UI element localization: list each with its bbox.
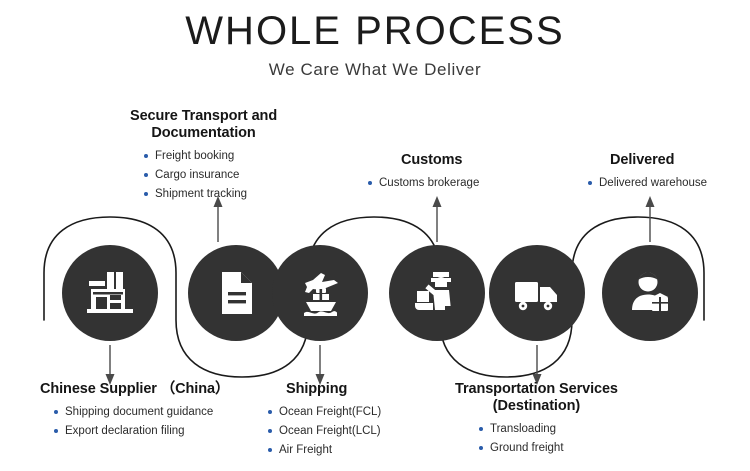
label-title-customs: Customs: [401, 152, 479, 169]
bullet-list-transportation-services: Transloading Ground freight: [479, 420, 618, 458]
bullet-list-customs: Customs brokerage: [368, 174, 479, 193]
list-item: Air Freight: [268, 441, 381, 460]
label-secure-transport: Secure Transport and Documentation Freig…: [130, 108, 277, 204]
list-item: Shipping document guidance: [54, 403, 229, 422]
list-item: Export declaration filing: [54, 422, 229, 441]
label-delivered: Delivered Delivered warehouse: [588, 152, 707, 193]
node-circle-customs[interactable]: [389, 245, 485, 341]
factory-icon: [83, 266, 137, 320]
node-circle-shipping[interactable]: [272, 245, 368, 341]
node-circle-delivered[interactable]: [602, 245, 698, 341]
list-item: Customs brokerage: [368, 174, 479, 193]
list-item: Delivered warehouse: [588, 174, 707, 193]
node-circle-secure-transport[interactable]: [188, 245, 284, 341]
truck-icon: [509, 265, 565, 321]
list-item: Ocean Freight(LCL): [268, 422, 381, 441]
bullet-list-delivered: Delivered warehouse: [588, 174, 707, 193]
page-title: WHOLE PROCESS: [0, 8, 750, 54]
arrow-up-customs: [433, 196, 442, 242]
list-item: Transloading: [479, 420, 618, 439]
label-chinese-supplier: Chinese Supplier （China） Shipping docume…: [40, 381, 229, 441]
whole-process-diagram: WHOLE PROCESS We Care What We Deliver: [0, 0, 750, 471]
ship-plane-icon: [291, 264, 349, 322]
arrow-down-supplier: [106, 345, 115, 385]
label-customs: Customs Customs brokerage: [368, 152, 479, 193]
label-title-shipping: Shipping: [286, 381, 381, 398]
label-shipping: Shipping Ocean Freight(FCL) Ocean Freigh…: [268, 381, 381, 460]
list-item: Cargo insurance: [144, 166, 277, 185]
document-icon: [210, 267, 262, 319]
bullet-list-shipping: Ocean Freight(FCL) Ocean Freight(LCL) Ai…: [268, 403, 381, 460]
page-subtitle: We Care What We Deliver: [0, 60, 750, 80]
label-title-delivered: Delivered: [610, 152, 707, 169]
list-item: Shipment tracking: [144, 185, 277, 204]
bullet-list-secure-transport: Freight booking Cargo insurance Shipment…: [144, 147, 277, 204]
customs-officer-icon: [409, 265, 465, 321]
node-circle-transportation-services[interactable]: [489, 245, 585, 341]
node-circle-chinese-supplier[interactable]: [62, 245, 158, 341]
list-item: Ground freight: [479, 439, 618, 458]
arrow-down-shipping: [316, 345, 325, 385]
label-transportation-services: Transportation Services (Destination) Tr…: [455, 381, 618, 458]
label-title-transportation-services: Transportation Services (Destination): [455, 381, 618, 415]
label-title-chinese-supplier: Chinese Supplier （China）: [40, 381, 229, 398]
label-title-secure-transport: Secure Transport and Documentation: [130, 108, 277, 142]
arrow-down-transportation: [533, 345, 542, 385]
list-item: Freight booking: [144, 147, 277, 166]
arrow-up-delivered: [646, 196, 655, 242]
bullet-list-chinese-supplier: Shipping document guidance Export declar…: [54, 403, 229, 441]
diagram-header: WHOLE PROCESS We Care What We Deliver: [0, 8, 750, 80]
list-item: Ocean Freight(FCL): [268, 403, 381, 422]
person-package-icon: [623, 266, 677, 320]
